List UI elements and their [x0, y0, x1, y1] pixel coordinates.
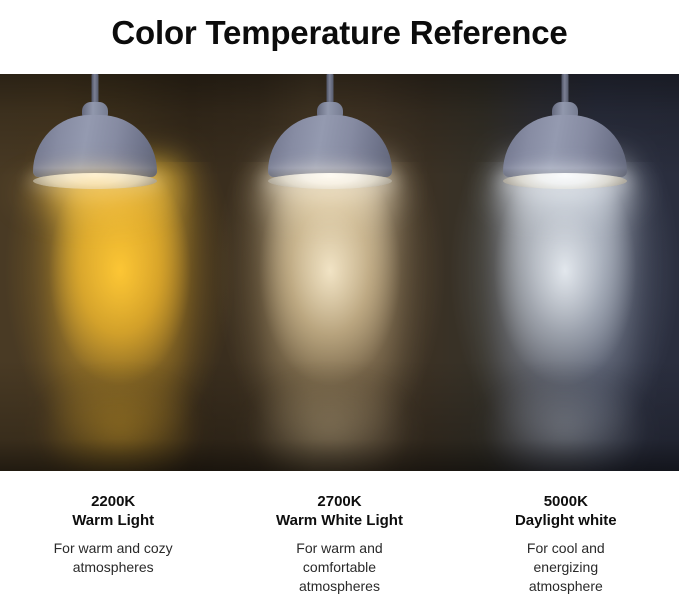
temperature-name: Warm Light — [72, 511, 154, 530]
temperature-description: For cool and energizing atmosphere — [512, 539, 620, 596]
lamp-shade-dome — [268, 115, 392, 177]
kelvin-value: 5000K — [544, 492, 588, 511]
page-title: Color Temperature Reference — [111, 14, 567, 52]
caption-column-2700k: 2700K Warm White Light For warm and comf… — [226, 471, 452, 608]
caption-column-5000k: 5000K Daylight white For cool and energi… — [453, 471, 679, 608]
color-temperature-reference-page: Color Temperature Reference — [0, 0, 679, 608]
caption-column-2200k: 2200K Warm Light For warm and cozy atmos… — [0, 471, 226, 608]
pendant-lamp-daylight — [485, 74, 645, 274]
pendant-lamp-warm-white — [250, 74, 410, 274]
lamp-photo — [0, 74, 679, 471]
kelvin-value: 2700K — [317, 492, 361, 511]
lamp-shade-dome — [33, 115, 157, 177]
title-bar: Color Temperature Reference — [0, 0, 679, 74]
temperature-description: For warm and cozy atmospheres — [28, 539, 198, 577]
caption-row: 2200K Warm Light For warm and cozy atmos… — [0, 471, 679, 608]
lamp-inner-rim — [268, 173, 392, 189]
temperature-name: Warm White Light — [276, 511, 403, 530]
lamp-inner-rim — [33, 173, 157, 189]
temperature-name: Daylight white — [515, 511, 617, 530]
pendant-lamp-warm — [15, 74, 175, 274]
lamp-shade-dome — [503, 115, 627, 177]
lamp-inner-rim — [503, 173, 627, 189]
temperature-description: For warm and comfortable atmospheres — [279, 539, 399, 596]
kelvin-value: 2200K — [91, 492, 135, 511]
